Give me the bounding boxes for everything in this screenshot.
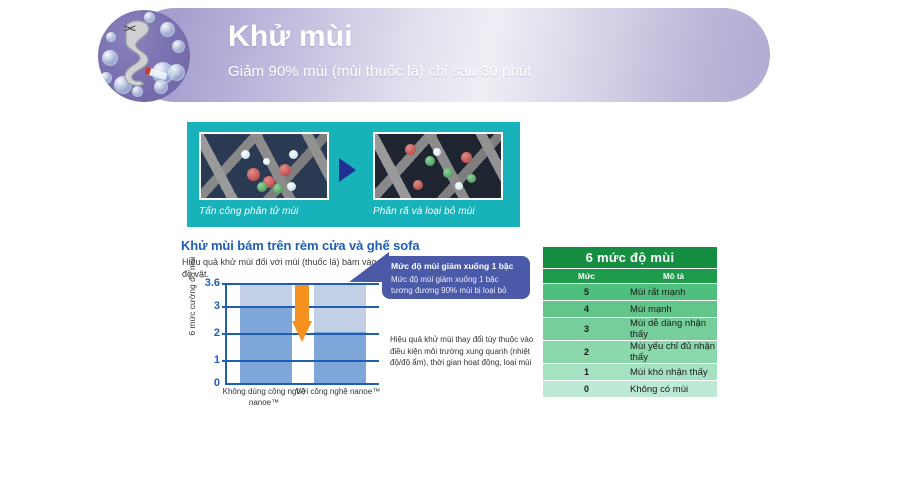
odor-level-table: 6 mức độ mùi Mức Mô tả 5 Mùi rất mạnh 4 … [543, 247, 717, 397]
chart-heading: Khử mùi bám trên rèm cửa và ghế sofa [181, 238, 419, 253]
cell-level: 2 [543, 341, 630, 363]
process-panel: Tấn công phân tử mùi Phân rã và loại bỏ … [187, 122, 520, 227]
cell-description: Mùi rất mạnh [630, 284, 717, 300]
cell-description: Không có mùi [630, 381, 717, 397]
cell-level: 3 [543, 318, 630, 340]
table-row: 0 Không có mùi [543, 381, 717, 397]
y-tick-label: 1 [192, 355, 220, 366]
table-row: 2 Mùi yếu chỉ đủ nhận thấy [543, 341, 717, 363]
page-title: Khử mùi [228, 20, 748, 55]
down-arrow-icon [292, 285, 312, 343]
cell-level: 4 [543, 301, 630, 317]
table-row: 3 Mùi dễ dàng nhận thấy [543, 318, 717, 340]
odor-intensity-bar-chart: 6 mức cường độ mùi 3.6 3 2 1 0 Không dùn… [178, 283, 378, 393]
y-tick-label: 3 [192, 301, 220, 312]
chart-note: Hiệu quả khử mùi thay đổi tùy thuộc vào … [390, 334, 540, 369]
mascot-smoke-character-icon: >< [98, 10, 190, 102]
table-title: 6 mức độ mùi [543, 247, 717, 268]
y-tick-label: 2 [192, 328, 220, 339]
header-text-block: Khử mùi Giảm 90% mùi (mùi thuốc lá) chỉ … [228, 20, 748, 81]
process-step-caption: Phân rã và loại bỏ mùi [373, 206, 475, 217]
cell-level: 1 [543, 364, 630, 380]
cell-description: Mùi yếu chỉ đủ nhận thấy [630, 341, 717, 363]
page-subtitle: Giảm 90% mùi (mùi thuốc lá) chỉ sau 30 p… [228, 63, 748, 81]
mascot-eyes-icon: >< [124, 23, 135, 35]
column-header-level: Mức [543, 269, 630, 283]
y-axis-ticks: 3.6 3 2 1 0 [192, 283, 220, 383]
cell-level: 5 [543, 284, 630, 300]
y-tick-label: 0 [192, 378, 220, 389]
column-header-description: Mô tả [630, 269, 717, 283]
callout-title: Mức độ mùi giảm xuống 1 bậc [391, 261, 522, 272]
cell-description: Mùi dễ dàng nhận thấy [630, 318, 717, 340]
cell-level: 0 [543, 381, 630, 397]
bar-no-nanoe [240, 307, 292, 383]
right-triangle-icon [339, 158, 356, 182]
micrograph-before [199, 132, 329, 200]
micrograph-after [373, 132, 503, 200]
process-step-caption: Tấn công phân tử mùi [199, 206, 299, 217]
table-row: 1 Mùi khó nhận thấy [543, 364, 717, 380]
table-row: 4 Mùi mạnh [543, 301, 717, 317]
callout-body-line2: tương đương 90% mùi bị loại bỏ [391, 286, 507, 295]
callout-body-line1: Mức độ mùi giảm xuống 1 bậc [391, 275, 499, 284]
bar-with-nanoe [314, 332, 366, 383]
table-header-row: Mức Mô tả [543, 269, 717, 283]
callout-body: Mức độ mùi giảm xuống 1 bậc tương đương … [391, 274, 522, 297]
table-row: 5 Mùi rất mạnh [543, 284, 717, 300]
y-tick-label: 3.6 [192, 278, 220, 289]
callout-box: Mức độ mùi giảm xuống 1 bậc Mức độ mùi g… [382, 256, 530, 299]
x-tick-label: Với công nghệ nanoe™ [295, 387, 381, 398]
cell-description: Mùi khó nhận thấy [630, 364, 717, 380]
gridline-1 [227, 360, 379, 362]
cell-description: Mùi mạnh [630, 301, 717, 317]
